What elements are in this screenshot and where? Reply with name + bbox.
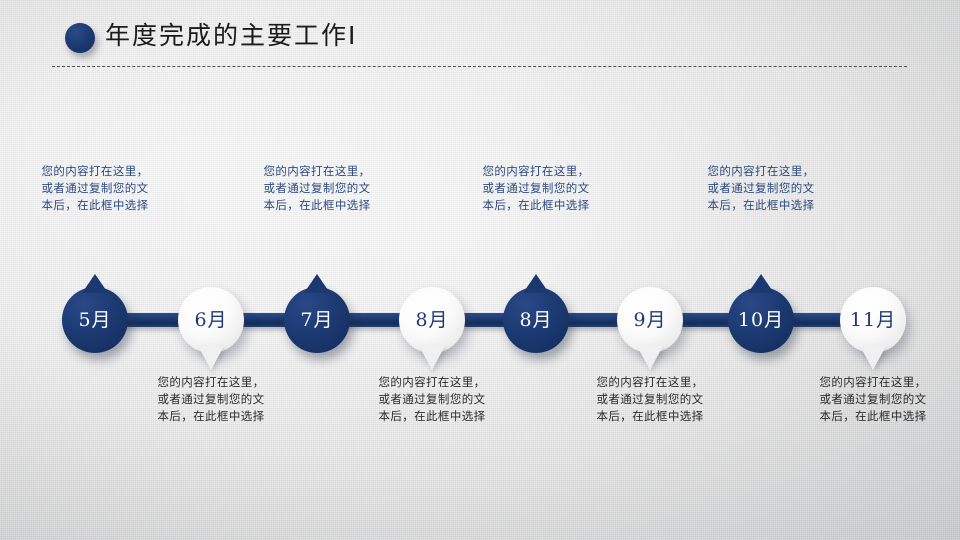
timeline-caption-7月[interactable]: 您的内容打在这里，或者通过复制您的文本后，在此框中选择 (263, 163, 371, 214)
timeline-node-label: 8月 (519, 311, 552, 330)
slide-canvas: 年度完成的主要工作I 5月您的内容打在这里，或者通过复制您的文本后，在此框中选择… (0, 0, 960, 540)
timeline-node-7月[interactable]: 7月 (284, 287, 350, 353)
timeline-node-6月[interactable]: 6月 (178, 287, 244, 353)
timeline: 5月您的内容打在这里，或者通过复制您的文本后，在此框中选择6月您的内容打在这里，… (0, 0, 960, 540)
timeline-caption-8月[interactable]: 您的内容打在这里，或者通过复制您的文本后，在此框中选择 (482, 163, 590, 214)
timeline-node-label: 6月 (194, 311, 227, 330)
timeline-node-8月[interactable]: 8月 (503, 287, 569, 353)
timeline-node-label: 8月 (415, 311, 448, 330)
timeline-node-label: 10月 (738, 311, 784, 330)
timeline-node-label: 11月 (850, 311, 896, 330)
timeline-node-8月[interactable]: 8月 (399, 287, 465, 353)
timeline-node-label: 9月 (633, 311, 666, 330)
timeline-node-9月[interactable]: 9月 (617, 287, 683, 353)
timeline-node-11月[interactable]: 11月 (840, 287, 906, 353)
timeline-caption-8月[interactable]: 您的内容打在这里，或者通过复制您的文本后，在此框中选择 (378, 374, 486, 425)
timeline-node-5月[interactable]: 5月 (62, 287, 128, 353)
timeline-node-label: 5月 (78, 311, 111, 330)
timeline-caption-9月[interactable]: 您的内容打在这里，或者通过复制您的文本后，在此框中选择 (596, 374, 704, 425)
timeline-node-label: 7月 (300, 311, 333, 330)
timeline-node-10月[interactable]: 10月 (728, 287, 794, 353)
timeline-caption-5月[interactable]: 您的内容打在这里，或者通过复制您的文本后，在此框中选择 (41, 163, 149, 214)
timeline-caption-10月[interactable]: 您的内容打在这里，或者通过复制您的文本后，在此框中选择 (707, 163, 815, 214)
timeline-caption-11月[interactable]: 您的内容打在这里，或者通过复制您的文本后，在此框中选择 (819, 374, 927, 425)
timeline-caption-6月[interactable]: 您的内容打在这里，或者通过复制您的文本后，在此框中选择 (157, 374, 265, 425)
